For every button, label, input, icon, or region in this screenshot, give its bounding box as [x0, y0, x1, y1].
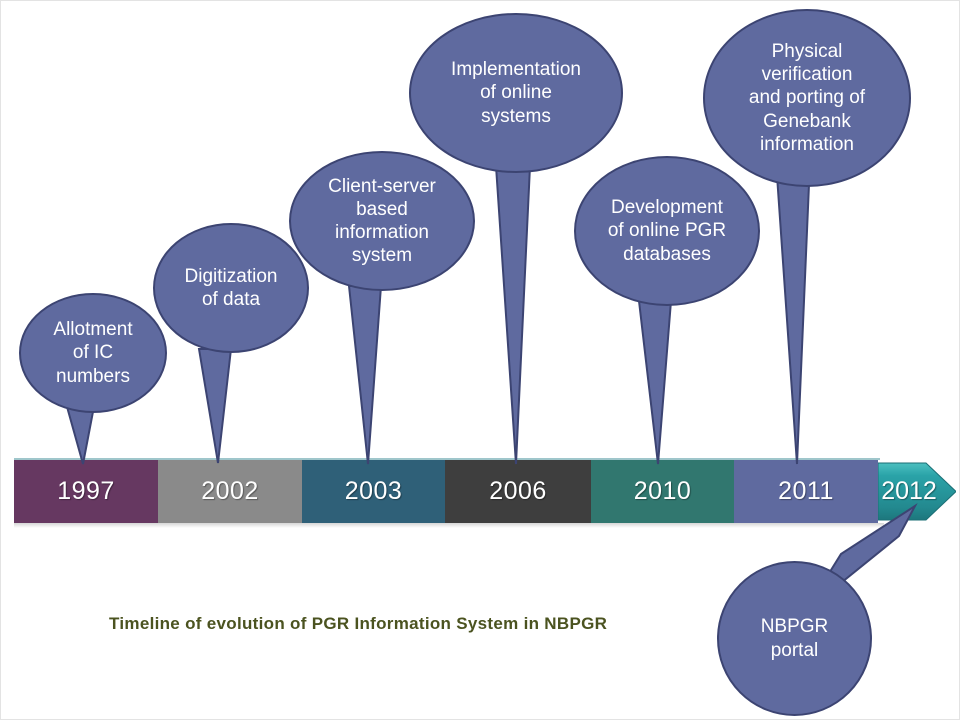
- callout-2011[interactable]: Physical verification and porting of Gen…: [703, 9, 911, 187]
- timeline-segment-2003[interactable]: 2003: [302, 460, 445, 523]
- callout-text-2012: NBPGR portal: [753, 615, 837, 661]
- diagram-caption: Timeline of evolution of PGR Information…: [109, 614, 607, 634]
- callout-line: Implementation: [451, 58, 581, 81]
- callout-line: Genebank: [749, 110, 865, 133]
- timeline-segment-1997[interactable]: 1997: [14, 460, 158, 523]
- timeline-segment-2002[interactable]: 2002: [158, 460, 302, 523]
- callout-line: information: [749, 133, 865, 156]
- callout-text-2003: Client-server based information system: [320, 175, 444, 268]
- callout-line: of online: [451, 81, 581, 104]
- callout-line: of IC: [53, 341, 132, 364]
- callout-line: portal: [761, 639, 829, 662]
- callout-line: systems: [451, 105, 581, 128]
- callout-text-2006: Implementation of online systems: [443, 58, 589, 128]
- callout-bubble-1997[interactable]: Allotment of IC numbers: [19, 293, 167, 413]
- callout-bubble-2002[interactable]: Digitization of data: [153, 223, 309, 353]
- timeline-year-label: 2011: [778, 477, 834, 506]
- callout-bubble-2010[interactable]: Development of online PGR databases: [574, 156, 760, 306]
- callout-text-2010: Development of online PGR databases: [600, 196, 734, 266]
- callout-line: Physical: [749, 40, 865, 63]
- callout-tail-2002: [193, 349, 253, 465]
- callout-line: based: [328, 198, 436, 221]
- timeline-year-label: 1997: [57, 477, 115, 506]
- callout-tail-2010: [631, 301, 691, 466]
- timeline-segment-2006[interactable]: 2006: [445, 460, 591, 523]
- callout-text-2002: Digitization of data: [177, 265, 286, 311]
- callout-line: databases: [608, 243, 726, 266]
- callout-line: Digitization: [185, 265, 278, 288]
- callout-line: of data: [185, 288, 278, 311]
- callout-line: Client-server: [328, 175, 436, 198]
- callout-bubble-2006[interactable]: Implementation of online systems: [409, 13, 623, 173]
- callout-line: and porting of: [749, 86, 865, 109]
- timeline-segment-2010[interactable]: 2010: [591, 460, 734, 523]
- callout-tail-2011: [766, 161, 826, 466]
- timeline-year-label: 2012: [881, 477, 937, 506]
- timeline-year-label: 2002: [201, 477, 259, 506]
- callout-line: Development: [608, 196, 726, 219]
- callout-tail-2006: [486, 166, 546, 466]
- timeline-shadow: [14, 523, 884, 528]
- callout-line: of online PGR: [608, 219, 726, 242]
- callout-bubble-2011[interactable]: Physical verification and porting of Gen…: [703, 9, 911, 187]
- callout-2002[interactable]: Digitization of data: [153, 223, 309, 353]
- timeline-year-label: 2010: [634, 477, 692, 506]
- timeline-diagram: Allotment of IC numbers Digitization of …: [0, 0, 960, 720]
- callout-line: NBPGR: [761, 615, 829, 638]
- callout-2012[interactable]: NBPGR portal: [717, 561, 872, 716]
- callout-bubble-2003[interactable]: Client-server based information system: [289, 151, 475, 291]
- callout-line: system: [328, 244, 436, 267]
- callout-line: verification: [749, 63, 865, 86]
- callout-bubble-2012[interactable]: NBPGR portal: [717, 561, 872, 716]
- callout-text-2011: Physical verification and porting of Gen…: [741, 40, 873, 156]
- callout-line: Allotment: [53, 318, 132, 341]
- callout-2003[interactable]: Client-server based information system: [289, 151, 475, 291]
- callout-line: numbers: [53, 365, 132, 388]
- timeline-year-label: 2006: [489, 477, 547, 506]
- callout-line: information: [328, 221, 436, 244]
- callout-2006[interactable]: Implementation of online systems: [409, 13, 623, 173]
- timeline-year-label: 2003: [345, 477, 403, 506]
- callout-tail-2003: [341, 286, 401, 466]
- callout-1997[interactable]: Allotment of IC numbers: [19, 293, 167, 413]
- callout-text-1997: Allotment of IC numbers: [45, 318, 140, 388]
- callout-2010[interactable]: Development of online PGR databases: [574, 156, 760, 306]
